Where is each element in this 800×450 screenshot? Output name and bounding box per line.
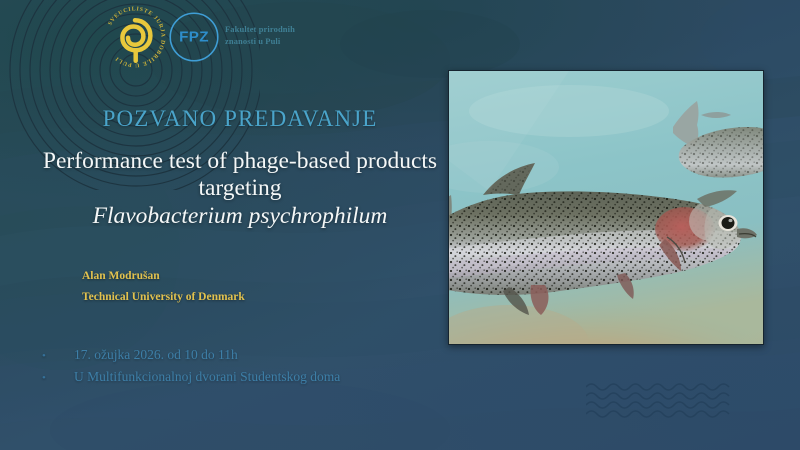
event-location: U Multifunkcionalnoj dvorani Studentskog… [74,366,340,388]
bullet-marker: • [42,370,74,388]
title-line-1: Performance test of phage-based [43,148,350,174]
list-item: • 17. ožujka 2026. od 10 do 11h [42,344,462,366]
faculty-name: Fakultet prirodnih znanosti u Puli [225,23,337,48]
speaker-affiliation: Technical University of Denmark [82,287,412,308]
slide-title: Performance test of phage-based products… [34,148,446,230]
rainbow-trout-underwater-photo [448,70,764,345]
speaker-name: Alan Modrušan [82,266,412,287]
fpz-abbreviation: FPZ [179,29,209,46]
list-item: • U Multifunkcionalnoj dvorani Studentsk… [42,366,462,388]
faculty-name-line1: Fakultet prirodnih [225,23,337,35]
fpz-circle-logo-icon: FPZ [160,4,228,70]
faculty-name-line2: znanosti u Puli [225,35,337,47]
event-details-list: • 17. ožujka 2026. od 10 do 11h • U Mult… [42,344,462,388]
header-logo-group: SVEUCILISTE JURJA DOBRILE U PULI FPZ Fak… [0,0,340,76]
title-species-name: Flavobacterium psychrophilum [34,203,446,230]
event-datetime: 17. ožujka 2026. od 10 do 11h [74,344,238,366]
wavy-lines-ornament [586,382,762,422]
kicker-label: POZVANO PREDAVANJE [40,106,440,132]
presentation-slide: SVEUCILISTE JURJA DOBRILE U PULI FPZ Fak… [0,0,800,450]
bullet-marker: • [42,348,74,366]
speaker-block: Alan Modrušan Technical University of De… [82,266,412,309]
trout-photo-illustration [449,71,763,344]
